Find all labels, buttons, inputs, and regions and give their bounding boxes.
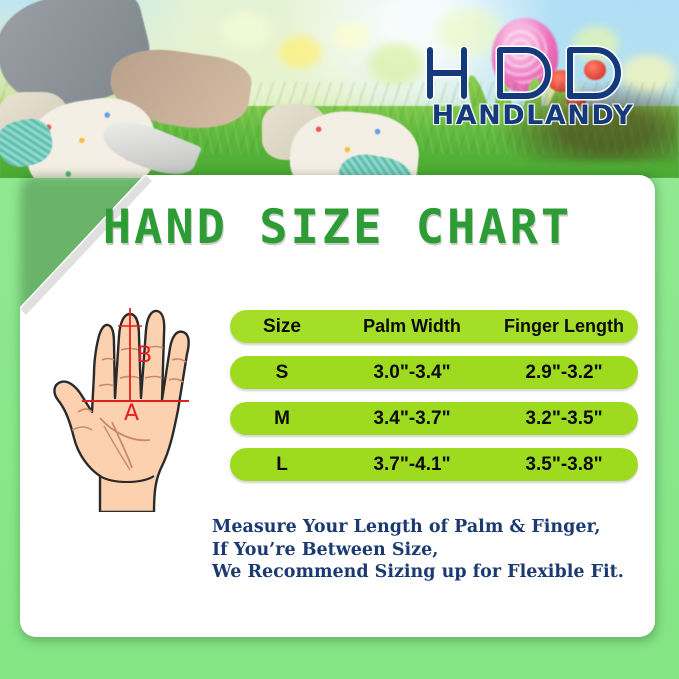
size-table: Size Palm Width Finger Length S 3.0"-3.4…	[230, 310, 638, 494]
cell-palm-width: 3.0"-3.4"	[373, 362, 450, 383]
page-title: HAND SIZE CHART	[20, 200, 655, 255]
note-line-3: We Recommend Sizing up for Flexible Fit.	[212, 561, 652, 584]
cell-size: S	[276, 362, 289, 383]
table-row: L 3.7"-4.1" 3.5"-3.8"	[230, 448, 638, 481]
gardener-arms	[0, 0, 290, 178]
label-finger-length: B	[137, 343, 152, 368]
table-row: S 3.0"-3.4" 2.9"-3.2"	[230, 356, 638, 389]
header-palm-width: Palm Width	[363, 316, 461, 336]
cell-palm-width: 3.7"-4.1"	[373, 454, 450, 475]
sizing-note: Measure Your Length of Palm & Finger, If…	[212, 516, 652, 584]
size-chart-page: HANDLANDY HAND SIZE CHART	[0, 0, 679, 679]
note-line-2: If You’re Between Size,	[212, 539, 652, 562]
header-size: Size	[263, 316, 301, 337]
cell-size: M	[274, 408, 290, 429]
banner-photo: HANDLANDY	[0, 0, 679, 178]
brand-name: HANDLANDY	[422, 100, 644, 136]
hld-monogram-icon	[422, 44, 644, 102]
cell-size: L	[276, 454, 288, 475]
hand-measurement-diagram: B A	[42, 300, 224, 512]
cell-finger-length: 3.2"-3.5"	[525, 408, 602, 429]
note-line-1: Measure Your Length of Palm & Finger,	[212, 516, 652, 539]
cell-finger-length: 2.9"-3.2"	[525, 362, 602, 383]
label-palm-width: A	[124, 401, 139, 426]
table-header-row: Size Palm Width Finger Length	[230, 310, 638, 343]
cell-finger-length: 3.5"-3.8"	[525, 454, 602, 475]
cell-palm-width: 3.4"-3.7"	[373, 408, 450, 429]
table-row: M 3.4"-3.7" 3.2"-3.5"	[230, 402, 638, 435]
brand-logo[interactable]: HANDLANDY	[422, 44, 644, 136]
hand-outline	[54, 311, 188, 512]
header-finger-length: Finger Length	[504, 316, 624, 336]
